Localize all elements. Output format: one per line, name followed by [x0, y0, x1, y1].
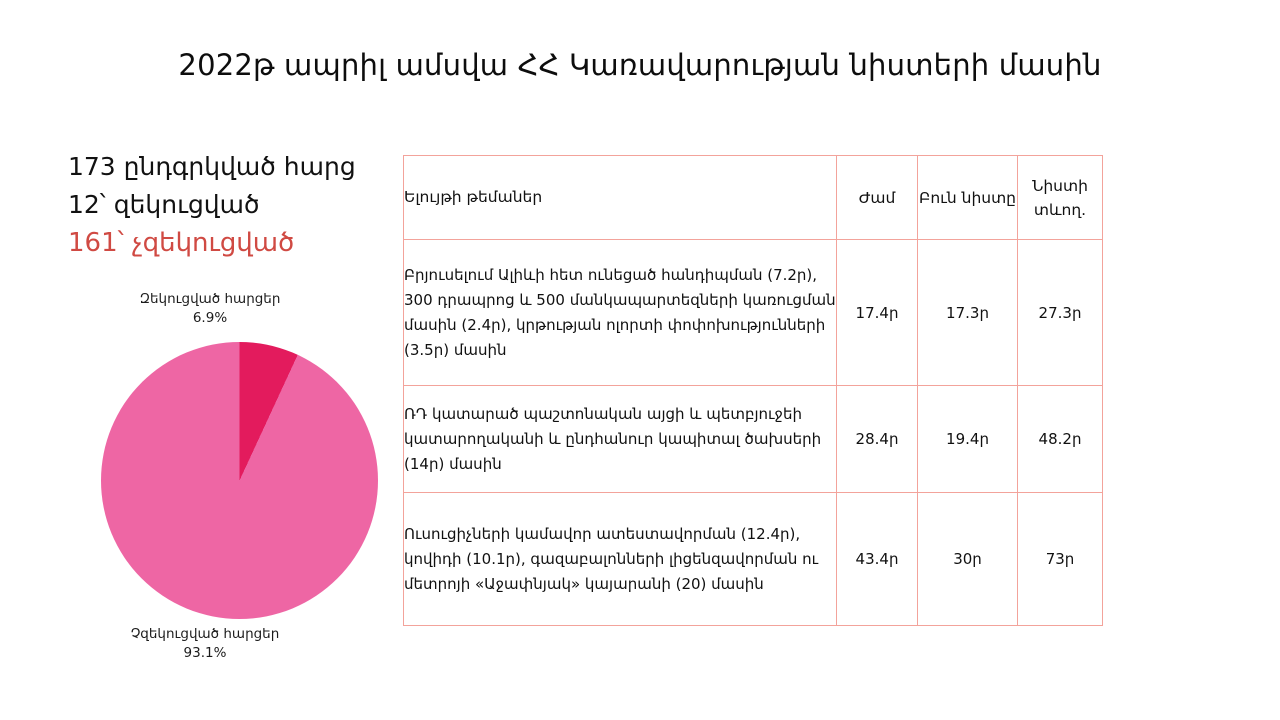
table-header-time: Ժամ [837, 156, 918, 240]
stat-reported-questions: 12՝ զեկուցված [68, 186, 388, 224]
table-header-duration: Նիստի տևող. [1018, 156, 1103, 240]
table-header-topic: Ելույթի թեմաներ [404, 156, 837, 240]
table-row: ՌԴ կատարած պաշտոնական այցի և պետբյուջեի … [404, 386, 1103, 493]
stat-unreported-questions: 161՝ չզեկուցված [68, 224, 388, 262]
table-cell-main-session: 30ր [918, 493, 1018, 626]
stats-block: 173 ընդգրկված հարց 12՝ զեկուցված 161՝ չզ… [68, 148, 388, 262]
table-cell-time: 28.4ր [837, 386, 918, 493]
table-cell-topic: Բրյուսելում Ալիևի հետ ունեցած հանդիպման … [404, 240, 837, 386]
pie-label-reported-text: Զեկուցված հարցեր [140, 291, 281, 307]
table-cell-time: 17.4ր [837, 240, 918, 386]
table-cell-duration: 48.2ր [1018, 386, 1103, 493]
table-row: Ուսուցիչների կամավոր ատեստավորման (12.4ր… [404, 493, 1103, 626]
stat-total-questions: 173 ընդգրկված հարց [68, 148, 388, 186]
table-cell-duration: 73ր [1018, 493, 1103, 626]
pie-label-unreported: Չզեկուցված հարցեր 93.1% [40, 625, 370, 663]
table-cell-time: 43.4ր [837, 493, 918, 626]
pie-chart: Զեկուցված հարցեր 6.9% Չզեկուցված հարցեր … [30, 290, 400, 670]
pie-label-unreported-value: 93.1% [40, 644, 370, 663]
pie-graphic [101, 342, 378, 619]
table-header-row: Ելույթի թեմաներ Ժամ Բուն նիստը Նիստի տևո… [404, 156, 1103, 240]
pie-label-reported-value: 6.9% [75, 309, 345, 328]
table-cell-topic: ՌԴ կատարած պաշտոնական այցի և պետբյուջեի … [404, 386, 837, 493]
pie-label-unreported-text: Չզեկուցված հարցեր [131, 626, 280, 642]
agenda-table: Ելույթի թեմաներ Ժամ Բուն նիստը Նիստի տևո… [403, 155, 1103, 626]
table-header-main-session: Բուն նիստը [918, 156, 1018, 240]
pie-label-reported: Զեկուցված հարցեր 6.9% [75, 290, 345, 328]
page-title: 2022թ ապրիլ ամսվա ՀՀ Կառավարության նիստե… [0, 48, 1280, 82]
table-row: Բրյուսելում Ալիևի հետ ունեցած հանդիպման … [404, 240, 1103, 386]
table-cell-main-session: 19.4ր [918, 386, 1018, 493]
table-cell-topic: Ուսուցիչների կամավոր ատեստավորման (12.4ր… [404, 493, 837, 626]
agenda-table-wrapper: Ելույթի թեմաներ Ժամ Բուն նիստը Նիստի տևո… [403, 155, 1102, 626]
table-cell-main-session: 17.3ր [918, 240, 1018, 386]
table-cell-duration: 27.3ր [1018, 240, 1103, 386]
